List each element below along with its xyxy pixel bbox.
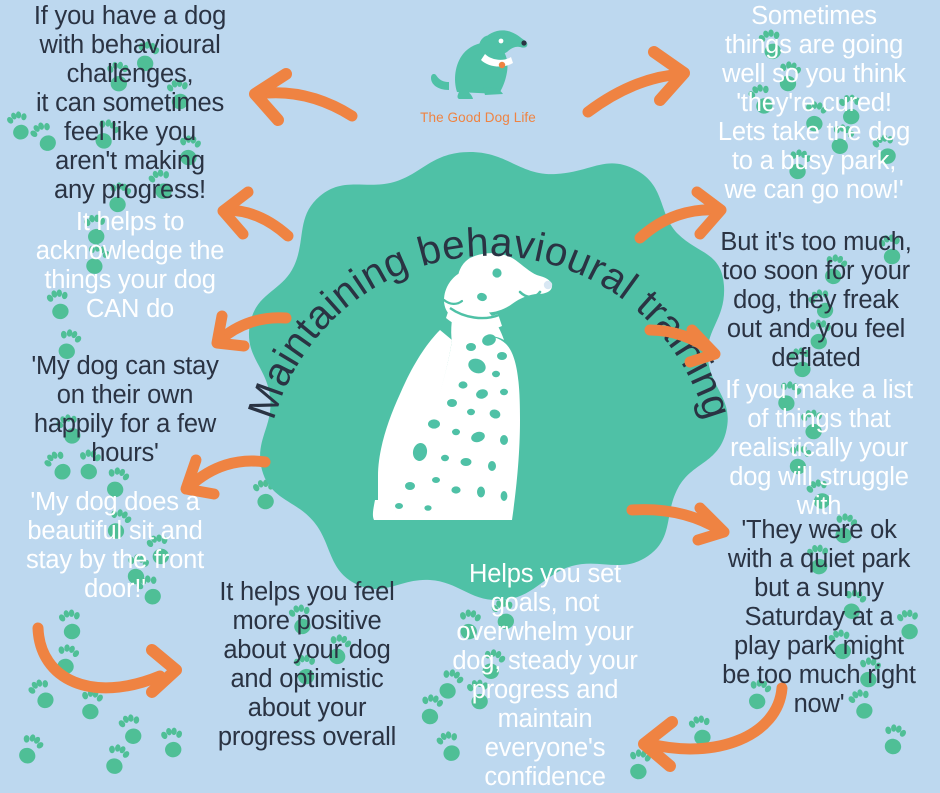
arrow-mid-left xyxy=(217,316,286,346)
infographic-canvas: Maintaining behavioural training xyxy=(0,0,940,788)
arrow-top-right xyxy=(588,52,684,112)
arrow-top-left xyxy=(255,74,352,120)
arrow-bottom-left xyxy=(38,628,176,692)
arrow-lower-right xyxy=(632,508,724,540)
arrow-upper-right xyxy=(640,192,721,238)
arrow-decorations xyxy=(0,0,940,788)
arrow-bottom-right xyxy=(644,688,782,766)
arrow-mid-right xyxy=(650,330,715,362)
arrow-upper-left xyxy=(223,192,288,236)
arrow-lower-left xyxy=(186,460,265,494)
